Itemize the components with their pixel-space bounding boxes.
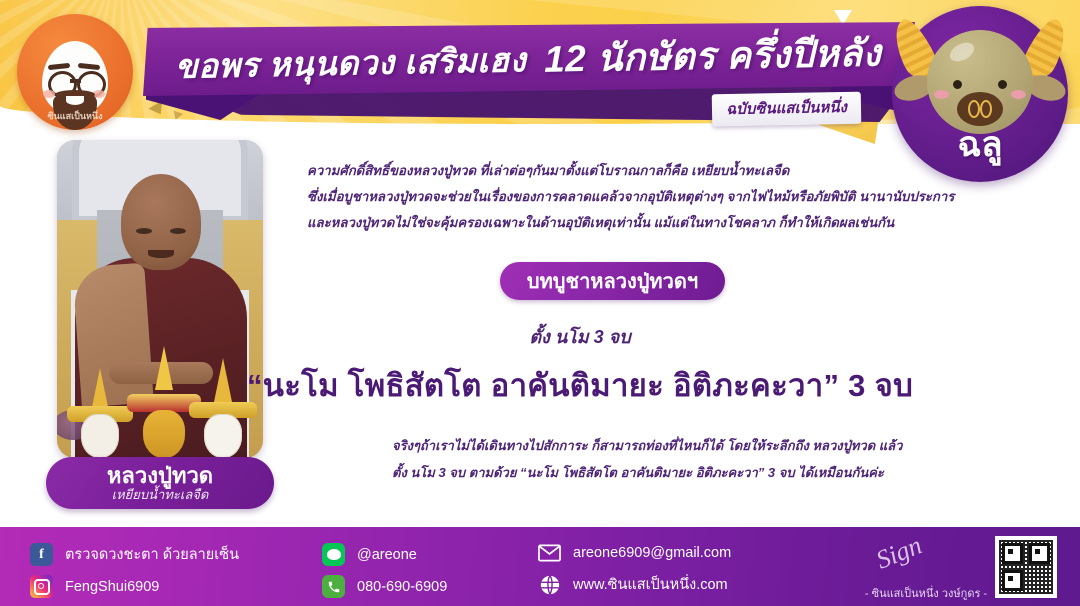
signature-name: - ซินแสเป็นหนึ่ง วงษ์กูดร - (836, 584, 1016, 602)
line-icon (322, 543, 345, 566)
intro-paragraph: ความศักดิ์สิทธิ์ของหลวงปู่ทวด ที่เล่าต่อ… (307, 158, 975, 236)
footer-contact-line[interactable]: @areone (322, 543, 447, 566)
photo-caption-subtitle: เหยียบน้ำทะเลจืด (112, 487, 209, 503)
footer-contact-email[interactable]: areone6909@gmail.com (538, 541, 731, 564)
brand-logo[interactable]: ซินแสเป็นหนึ่ง (17, 14, 133, 130)
globe-icon (538, 573, 561, 596)
ox-nostril-right (980, 100, 992, 118)
outro-paragraph: จริงๆถ้าเราไม่ได้เดินทางไปสักการะ ก็สามา… (392, 432, 972, 486)
monk-statue-photo (57, 140, 263, 458)
statue-eye-right (170, 228, 186, 234)
facebook-icon: f (30, 543, 53, 566)
footer-contact-facebook[interactable]: f ตรวจดวงชะตา ด้วยลายเซ็น (30, 543, 239, 566)
ox-cheek-right (1011, 90, 1026, 99)
prayer-heading-button[interactable]: บทบูชาหลวงปู่ทวดฯ (500, 262, 725, 300)
header-subtitle-plaque: ฉบับซินแสเป็นหนึ่ง (712, 92, 861, 127)
intro-line: และหลวงปู่ทวดไม่ใช่จะคุ้มครองเฉพาะในด้าน… (307, 210, 975, 236)
footer-column-line-phone: @areone 080-690-6909 (322, 543, 447, 598)
footer-contact-instagram[interactable]: FengShui6909 (30, 575, 239, 598)
phone-icon (322, 575, 345, 598)
email-icon (538, 541, 561, 564)
logo-cheek-left (43, 90, 55, 98)
ox-eye-right (998, 80, 1007, 89)
footer-column-social: f ตรวจดวงชะตา ด้วยลายเซ็น FengShui6909 (30, 543, 239, 598)
footer-contact-label: areone6909@gmail.com (573, 545, 731, 561)
intro-line: ซึ่งเมื่อบูชาหลวงปู่ทวดจะช่วยในเรื่องของ… (307, 184, 975, 210)
ox-nostril-left (968, 100, 980, 118)
header-title-part2: 12 นักษัตร ครึ่งปีหลัง (544, 23, 882, 88)
intro-line: ความศักดิ์สิทธิ์ของหลวงปู่ทวด ที่เล่าต่อ… (307, 158, 975, 184)
instagram-icon (30, 575, 53, 598)
prayer-heading-label: บทบูชาหลวงปู่ทวดฯ (527, 265, 698, 297)
mantra-text: “นะโม โพธิสัตโต อาคันติมายะ อิติภะคะวา” … (0, 360, 1080, 410)
photo-caption-badge: หลวงปู่ทวด เหยียบน้ำทะเลจืด (46, 457, 274, 509)
footer-contact-label: 080-690-6909 (357, 579, 447, 595)
footer-contact-label: www.ซินแสเป็นหนึ่ง.com (573, 573, 728, 596)
outro-line: จริงๆถ้าเราไม่ได้เดินทางไปสักการะ ก็สามา… (392, 432, 972, 459)
ox-cheek-left (934, 90, 949, 99)
outro-line: ตั้ง นโม 3 จบ ตามด้วย “นะโม โพธิสัตโต อา… (392, 459, 972, 486)
ox-head-highlight (947, 39, 977, 65)
signature-mark: Sign (872, 530, 926, 575)
footer-contact-label: FengShui6909 (65, 579, 159, 595)
photo-caption-title: หลวงปู่ทวด (107, 464, 213, 487)
statue-mouth (148, 250, 174, 258)
logo-brand-caption: ซินแสเป็นหนึ่ง (48, 109, 103, 123)
footer-column-mail-web: areone6909@gmail.com www.ซินแสเป็นหนึ่ง.… (538, 541, 731, 596)
logo-glasses-bridge (70, 79, 81, 83)
qr-code-icon[interactable] (995, 536, 1057, 598)
header-title: ขอพร หนุนดวง เสริมเฮง 12 นักษัตร ครึ่งปี… (174, 19, 895, 99)
footer-contact-label: @areone (357, 547, 417, 563)
zodiac-badge[interactable]: ฉลู (892, 6, 1068, 182)
statue-head (121, 174, 201, 270)
header-title-part1: ขอพร หนุนดวง เสริมเฮง (175, 33, 527, 93)
logo-mouth (66, 96, 84, 105)
footer-contact-label: ตรวจดวงชะตา ด้วยลายเซ็น (65, 543, 239, 566)
ox-eye-left (953, 80, 962, 89)
signature-block: Sign - ซินแสเป็นหนึ่ง วงษ์กูดร - (862, 534, 990, 598)
footer-contact-website[interactable]: www.ซินแสเป็นหนึ่ง.com (538, 573, 731, 596)
header-subtitle-text: ฉบับซินแสเป็นหนึ่ง (726, 99, 847, 118)
statue-eye-left (136, 228, 152, 234)
namo-instruction: ตั้ง นโม 3 จบ (0, 322, 1080, 351)
poster-canvas: ซินแสเป็นหนึ่ง ขอพร หนุนดวง เสริมเฮง 12 … (0, 0, 1080, 606)
footer-contact-phone[interactable]: 080-690-6909 (322, 575, 447, 598)
